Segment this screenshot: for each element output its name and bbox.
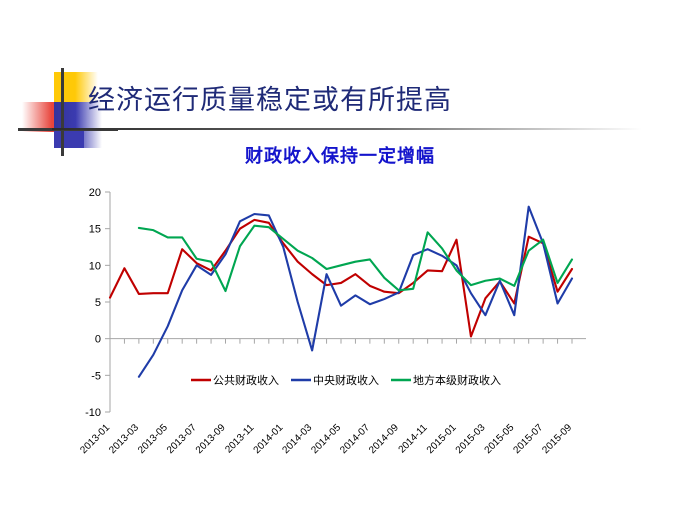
chart-canvas: -10-5051015202013-012013-032013-052013-0… [0,180,680,510]
x-axis-label: 2015-09 [540,422,574,456]
x-axis-label: 2015-07 [512,422,546,456]
legend-item-1: 中央财政收入 [291,373,379,387]
y-axis-label: 20 [89,187,101,199]
x-axis-label: 2013-07 [165,422,199,456]
legend-item-0: 公共财政收入 [191,373,279,387]
series-line-2 [139,226,572,291]
x-axis-label: 2013-03 [107,422,141,456]
x-axis-label: 2014-01 [252,422,286,456]
y-axis-label: 0 [95,334,101,346]
x-axis-label-group: 2014-11 [397,422,431,456]
x-axis-label: 2014-03 [281,422,315,456]
x-axis-label-group: 2015-09 [540,422,574,456]
x-axis-label-group: 2014-05 [309,422,343,456]
x-axis-label-group: 2013-01 [78,422,112,456]
y-axis-label: -5 [91,370,101,382]
legend-label-1: 中央财政收入 [313,373,379,387]
legend-label-0: 公共财政收入 [213,373,279,387]
x-axis-label-group: 2013-03 [107,422,141,456]
y-axis-label: 15 [89,224,101,236]
x-axis-label: 2015-03 [454,422,488,456]
legend-item-2: 地方本级财政收入 [391,373,501,387]
x-axis-label: 2013-01 [78,422,112,456]
x-axis-label: 2014-05 [309,422,343,456]
title-underline-rule [52,128,642,130]
x-axis-label-group: 2013-07 [165,422,199,456]
x-axis-label: 2014-09 [367,422,401,456]
x-axis-label-group: 2014-01 [252,422,286,456]
x-axis-label-group: 2015-07 [512,422,546,456]
line-chart: -10-5051015202013-012013-032013-052013-0… [0,180,680,510]
x-axis-label: 2013-05 [136,422,170,456]
x-axis-label: 2014-11 [397,422,431,456]
y-axis-label: -10 [85,407,101,419]
y-axis-label: 10 [89,260,101,272]
x-axis-label: 2015-05 [483,422,517,456]
x-axis-label: 2014-07 [338,422,372,456]
x-axis-label-group: 2014-07 [338,422,372,456]
x-axis-label-group: 2013-05 [136,422,170,456]
slide-subtitle: 财政收入保持一定增幅 [0,142,680,168]
x-axis-label-group: 2014-03 [281,422,315,456]
x-axis-label: 2013-09 [194,422,228,456]
x-axis-label-group: 2015-05 [483,422,517,456]
x-axis-label-group: 2014-09 [367,422,401,456]
slide-title: 经济运行质量稳定或有所提高 [88,78,648,117]
x-axis-label-group: 2013-11 [223,422,257,456]
x-axis-label-group: 2015-01 [425,422,459,456]
x-axis-label: 2015-01 [425,422,459,456]
x-axis-label: 2013-11 [223,422,257,456]
x-axis-label-group: 2013-09 [194,422,228,456]
legend-label-2: 地方本级财政收入 [413,373,501,387]
y-axis-label: 5 [95,297,101,309]
x-axis-label-group: 2015-03 [454,422,488,456]
